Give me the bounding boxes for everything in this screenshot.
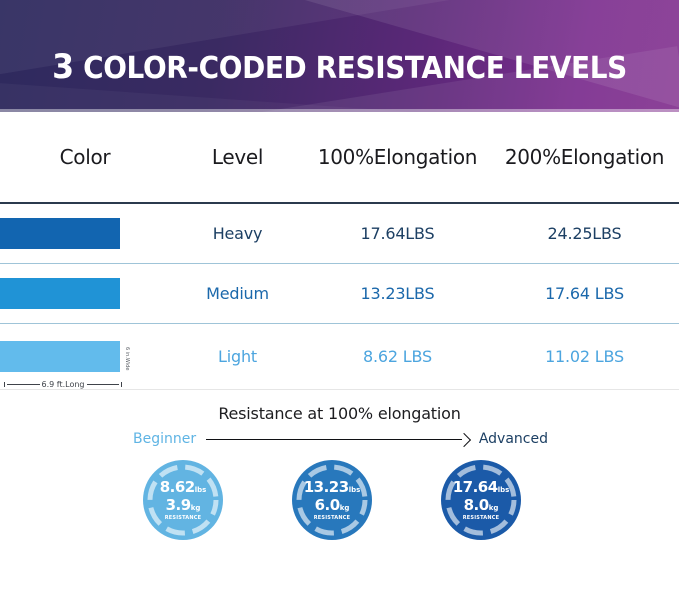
scale-start-label: Beginner [133,431,196,447]
level-label: Heavy [170,224,305,243]
page-title-number: 3 [52,47,74,87]
badge-caption: RESISTANCE [304,516,361,521]
color-bar-medium [0,278,120,309]
badge-lbs-unit: lbs [195,486,207,494]
badge-kg-unit: kg [489,504,499,512]
column-header-elongation-200: 200%Elongation [490,145,679,169]
table-row: 6 in.Wide 6.9 ft.Long Light 8.62 LBS 11.… [0,324,679,390]
dimension-length-label: 6.9 ft.Long [42,380,85,389]
badge-caption: RESISTANCE [453,516,510,521]
color-bar-heavy [0,218,120,249]
level-label: Light [170,347,305,366]
badge-kg-unit: kg [191,504,201,512]
badge-lbs-unit: lbs [349,486,361,494]
badge-kg-line: 6.0kg [304,498,361,513]
color-swatch-cell: 6 in.Wide 6.9 ft.Long [0,341,170,372]
badge-kg-value: 8.0 [464,496,489,514]
resistance-table: Color Level 100%Elongation 200%Elongatio… [0,112,679,390]
badge-kg-unit: kg [340,504,350,512]
badge-lbs-unit: lbs [498,486,510,494]
dimension-cap-right [121,382,122,387]
elongation-200-value: 11.02 LBS [490,347,679,366]
elongation-100-value: 8.62 LBS [305,347,490,366]
column-header-elongation-100: 100%Elongation [305,145,490,169]
color-bar-light [0,341,120,372]
dimension-cap-left [4,382,5,387]
badge-kg-line: 8.0kg [453,498,510,513]
page-title-text: COLOR-CODED RESISTANCE LEVELS [83,51,627,86]
badge-kg-value: 3.9 [166,496,191,514]
elongation-200-value: 17.64 LBS [490,284,679,303]
elongation-200-value: 24.25LBS [490,224,679,243]
elongation-100-value: 17.64LBS [305,224,490,243]
color-swatch-cell [0,278,170,309]
column-header-color: Color [0,145,170,169]
badge-values: 13.23lbs 6.0kg RESISTANCE [304,480,361,521]
badge-lbs-value: 13.23 [304,478,349,496]
resistance-badge-light: 8.62lbs 3.9kg RESISTANCE [143,460,223,540]
badge-lbs-line: 17.64lbs [453,480,510,495]
badge-lbs-value: 17.64 [453,478,498,496]
resistance-badge-medium: 13.23lbs 6.0kg RESISTANCE [292,460,372,540]
table-row: Heavy 17.64LBS 24.25LBS [0,204,679,264]
progression-scale: Beginner Advanced [133,431,548,447]
page-title: 3 COLOR-CODED RESISTANCE LEVELS [24,50,655,84]
color-swatch-cell [0,218,170,249]
badge-lbs-line: 13.23lbs [304,480,361,495]
header-banner: 3 COLOR-CODED RESISTANCE LEVELS [0,0,679,112]
badge-lbs-line: 8.62lbs [160,480,207,495]
badge-caption: RESISTANCE [160,516,207,521]
badge-values: 8.62lbs 3.9kg RESISTANCE [160,480,207,521]
progression-title: Resistance at 100% elongation [0,404,679,423]
badge-lbs-value: 8.62 [160,478,195,496]
scale-end-label: Advanced [479,431,548,447]
dimension-line-right [87,384,120,385]
badge-kg-line: 3.9kg [160,498,207,513]
dimension-length-annotation: 6.9 ft.Long [4,380,122,389]
dimension-line-left [7,384,40,385]
column-header-level: Level [170,145,305,169]
resistance-badge-heavy: 17.64lbs 8.0kg RESISTANCE [441,460,521,540]
progression-section: Resistance at 100% elongation Beginner A… [0,390,679,575]
resistance-badges: 8.62lbs 3.9kg RESISTANCE 13.23lbs 6.0kg … [0,460,679,570]
elongation-100-value: 13.23LBS [305,284,490,303]
arrow-right-icon [206,433,469,445]
badge-values: 17.64lbs 8.0kg RESISTANCE [453,480,510,521]
dimension-width-label: 6 in.Wide [124,347,129,370]
level-label: Medium [170,284,305,303]
table-header-row: Color Level 100%Elongation 200%Elongatio… [0,112,679,204]
badge-kg-value: 6.0 [315,496,340,514]
table-row: Medium 13.23LBS 17.64 LBS [0,264,679,324]
